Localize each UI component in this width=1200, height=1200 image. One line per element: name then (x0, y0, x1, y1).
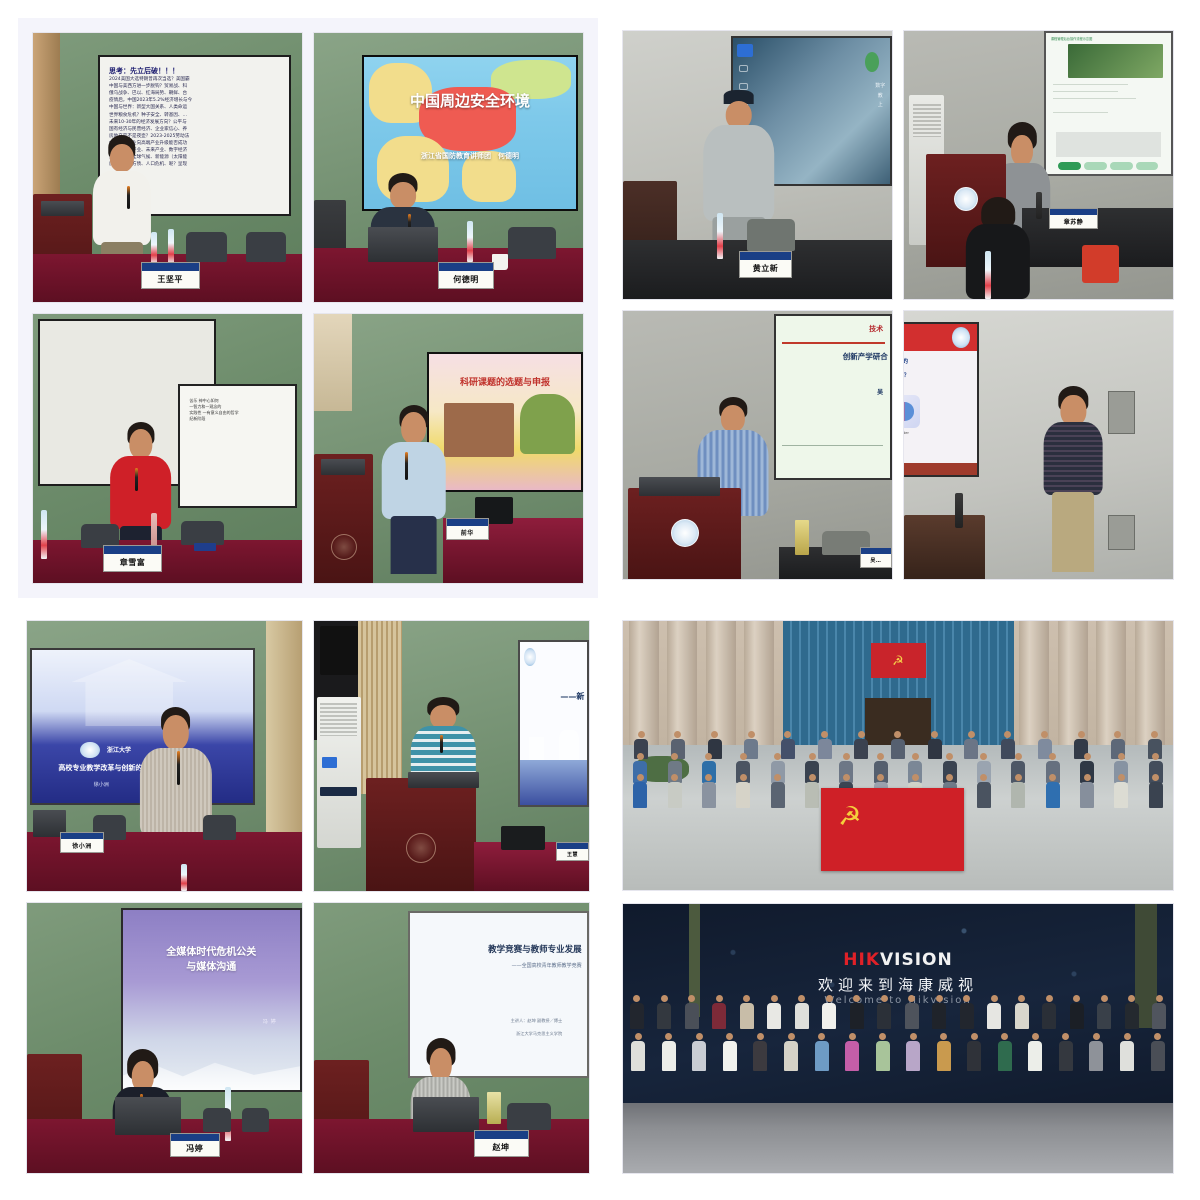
air-conditioner (317, 697, 361, 848)
slide-title: ——新 (560, 691, 584, 702)
photo-zhao-kun[interactable]: 教学竞赛与教师专业发展 ——全国高校青年教师教学竞赛 主讲人：赵坤 副教授／博士… (313, 902, 590, 1174)
hikvision-logo: HIKVISION (623, 950, 1173, 970)
nameplate: 章雪富 (103, 545, 162, 572)
nameplate-text: 徐小洲 (61, 839, 103, 852)
nameplate: 徐小洲 (60, 832, 104, 854)
nameplate: 何德明 (438, 262, 494, 289)
thermos (1036, 192, 1042, 219)
microphone-icon (127, 186, 130, 210)
nameplate: 黄立新 (739, 251, 793, 278)
head-table (33, 540, 302, 583)
panel-bottom-right: ☭ (614, 612, 1182, 1182)
nameplate: 前华 (446, 518, 489, 540)
speaker-figure (373, 405, 454, 572)
water-bottle (985, 251, 991, 299)
nameplate-text: 王坚平 (142, 271, 199, 288)
slide-line: 疫情后，中国2023年5.2%经济增长与今 (109, 97, 280, 104)
tea-glass (795, 520, 808, 555)
red-bag (1082, 245, 1120, 283)
panel-top-left: 思考：先立后破！！！ 2024美国大选特朗普再次当选？美国霸 中国与美西方进一步… (18, 18, 598, 598)
slide-subtitle: 创新产学研合 (776, 351, 888, 362)
school-logo (80, 742, 100, 759)
party-flag-emblem-icon: ☭ (838, 803, 861, 829)
brain-icon (903, 395, 920, 428)
panel-top-right: 数字 教 上 黄立新 (614, 22, 1182, 588)
water-bottle (41, 510, 47, 558)
slide-line: 中国与美西方进一步脱钩？贸易战、科 (109, 83, 280, 90)
wood-panel (358, 621, 402, 794)
slide-line: 2024美国大选特朗普再次当选？美国霸 (109, 76, 280, 83)
slide-title: 科研课题的选题与申报 (429, 375, 581, 388)
crowd-row-back (623, 995, 1173, 1029)
slide-line: 中国与世界：新型大国关系、人类命运 (109, 104, 280, 111)
nameplate: 王慧 (556, 842, 589, 861)
photo-gemini-talk[interactable]: Gemini之类的 的作用如何发挥？ Sider 用的 "ChatGPT" (903, 310, 1174, 580)
slide-subtitle: 浙江省国防教育讲师团 何德明 (364, 151, 575, 161)
notebook (194, 543, 216, 551)
speaker-figure (1039, 386, 1109, 568)
audience-member (963, 197, 1033, 299)
laptop (368, 227, 438, 262)
slide-image (1068, 44, 1163, 78)
panel-bottom-left: 浙江大学 高校专业教学改革与创新的 徐小洲 (18, 612, 598, 1182)
slide-title: 数字 教 上 (875, 82, 885, 111)
slide-title: 高校专业教学改革与创新的 (58, 763, 142, 773)
slide-title: 课程管理后台操作流程示意图 (1051, 36, 1092, 41)
nameplate-text: 何德明 (439, 271, 493, 288)
slide-title: 思考：先立后破！！！ (109, 66, 280, 76)
slide-line-1: Gemini之类的 (903, 357, 908, 365)
wall-panel (1108, 515, 1135, 550)
microphone-icon (135, 468, 138, 491)
slide-line: 俄乌战争、巴以、红海局势、朝鲜、台 (109, 90, 280, 97)
slide-presenter: 徐小洲 (94, 781, 109, 788)
projection-screen: ——新 (518, 640, 590, 807)
podium (366, 778, 476, 891)
water-bottle (467, 221, 473, 261)
nameplate: 赵坤 (474, 1130, 529, 1157)
microphone-icon (440, 735, 443, 753)
photo-wu-innovation[interactable]: 技术 创新产学研合 吴 (622, 310, 893, 580)
laptop (639, 477, 720, 496)
photo-group-hikvision[interactable]: HIKVISION 欢迎来到海康威视 Welcome to Hikvision (622, 903, 1174, 1174)
water-bottle (168, 229, 174, 264)
lobby-floor (623, 1103, 1173, 1173)
laptop (413, 1097, 479, 1132)
whiteboard-text: 苦乐 神中心如何 一智力和一观念的 实践性 一有意义自由的哲学 纪新阶段 (189, 398, 238, 422)
slide-line: 国有经济与民营经济、企业家信心、养 (109, 126, 280, 133)
thermos (955, 493, 963, 528)
welcome-text-cn: 欢迎来到海康威视 (623, 974, 1173, 995)
nameplate-text: 前华 (447, 526, 488, 539)
party-emblem-icon: ☭ (871, 643, 926, 678)
microphone-icon (177, 751, 180, 784)
nameplate-text: 王慧 (557, 849, 588, 861)
nameplate: 王坚平 (141, 262, 200, 289)
speaker-box (320, 626, 359, 675)
water-bottle (181, 864, 187, 891)
slide-presenter: 冯婷 (263, 1018, 279, 1025)
nameplate-text: 章雪富 (104, 554, 161, 571)
nameplate-text: 赵坤 (475, 1139, 528, 1156)
projection-screen: 课程管理后台操作流程示意图 (1044, 31, 1173, 176)
slide-org: 浙江大学马克思主义学院 (410, 1031, 563, 1037)
slide-title: 全媒体时代危机公关 与媒体沟通 (123, 946, 301, 975)
slide-subtitle: ——全国高校青年教师教学竞赛 (410, 962, 582, 969)
crowd-row-front (623, 1033, 1173, 1071)
photo-feng-ting[interactable]: 全媒体时代危机公关 与媒体沟通 冯婷 (26, 902, 303, 1174)
slide-title: 技术 (776, 324, 884, 334)
building-facade: ☭ (623, 621, 1173, 745)
podium (628, 488, 741, 579)
app-icon (737, 44, 753, 57)
photo-huang-lixin[interactable]: 数字 教 上 黄立新 (622, 30, 893, 300)
photo-he-deming[interactable]: 中国周边安全环境 浙江省国防教育讲师团 何德明 (313, 32, 584, 303)
slide-line: 未来10-30年的经济发展方向？公平与 (109, 119, 280, 126)
podium (314, 454, 373, 583)
laptop (115, 1097, 181, 1135)
water-bottle (717, 213, 723, 259)
wall-panel (1108, 391, 1135, 434)
projection-screen: Gemini之类的 的作用如何发挥？ Sider 用的 "ChatGPT" (903, 322, 979, 477)
podium (904, 515, 985, 579)
slide-title: 教学竞赛与教师专业发展 (410, 943, 582, 955)
microphone-icon (405, 452, 408, 480)
photo-collage: 思考：先立后破！！！ 2024美国大选特朗普再次当选？美国霸 中国与美西方进一步… (0, 0, 1200, 1200)
slide-line-2: 的作用如何发挥？ (903, 371, 909, 379)
nameplate: 吴… (860, 547, 892, 568)
hikvision-logo-vision: VISION (880, 950, 953, 970)
photo-group-party-flag[interactable]: ☭ (622, 620, 1174, 891)
nameplate: 冯婷 (170, 1133, 220, 1157)
nameplate-text: 冯婷 (171, 1141, 219, 1156)
photo-wang-jianping[interactable]: 思考：先立后破！！！ 2024美国大选特朗普再次当选？美国霸 中国与美西方进一步… (32, 32, 303, 303)
party-flag: ☭ (821, 788, 964, 871)
bag (501, 826, 545, 850)
slide-tool-label: Sider (903, 430, 920, 435)
school-logo (524, 648, 536, 666)
photo-research-topic[interactable]: 科研课题的选题与申报 前华 (313, 313, 584, 584)
photo-wang-podium[interactable]: ——新 (313, 620, 590, 892)
whiteboard: 苦乐 神中心如何 一智力和一观念的 实践性 一有意义自由的哲学 纪新阶段 (178, 384, 296, 508)
hikvision-logo-hik: HIK (843, 950, 880, 970)
wood-panel (314, 314, 352, 411)
slide-line: 世界粮食危机？种子安全、转基因、… (109, 112, 280, 119)
tea-bottle (487, 1092, 501, 1124)
slide-presenter: 吴 (776, 387, 884, 396)
nameplate: 章苏静 (1049, 208, 1097, 229)
photo-zhang-sujing[interactable]: 课程管理后台操作流程示意图 (903, 30, 1174, 300)
nameplate-text: 黄立新 (740, 260, 792, 277)
projection-screen: 技术 创新产学研合 吴 (774, 314, 892, 480)
laptop (408, 772, 480, 788)
water-bottle (151, 232, 157, 264)
badge-icon (865, 52, 879, 72)
nameplate-text: 章苏静 (1050, 215, 1096, 228)
slide-presenter: 主讲人：赵坤 副教授／博士 (410, 1018, 563, 1024)
photo-xu-xiaozhou[interactable]: 浙江大学 高校专业教学改革与创新的 徐小洲 (26, 620, 303, 892)
photo-zhang-xuefu[interactable]: 苦乐 神中心如何 一智力和一观念的 实践性 一有意义自由的哲学 纪新阶段 (32, 313, 303, 584)
slide-org: 浙江大学 (107, 745, 131, 754)
nameplate-text: 吴… (861, 554, 891, 567)
slide-title: 中国周边安全环境 (364, 90, 575, 111)
